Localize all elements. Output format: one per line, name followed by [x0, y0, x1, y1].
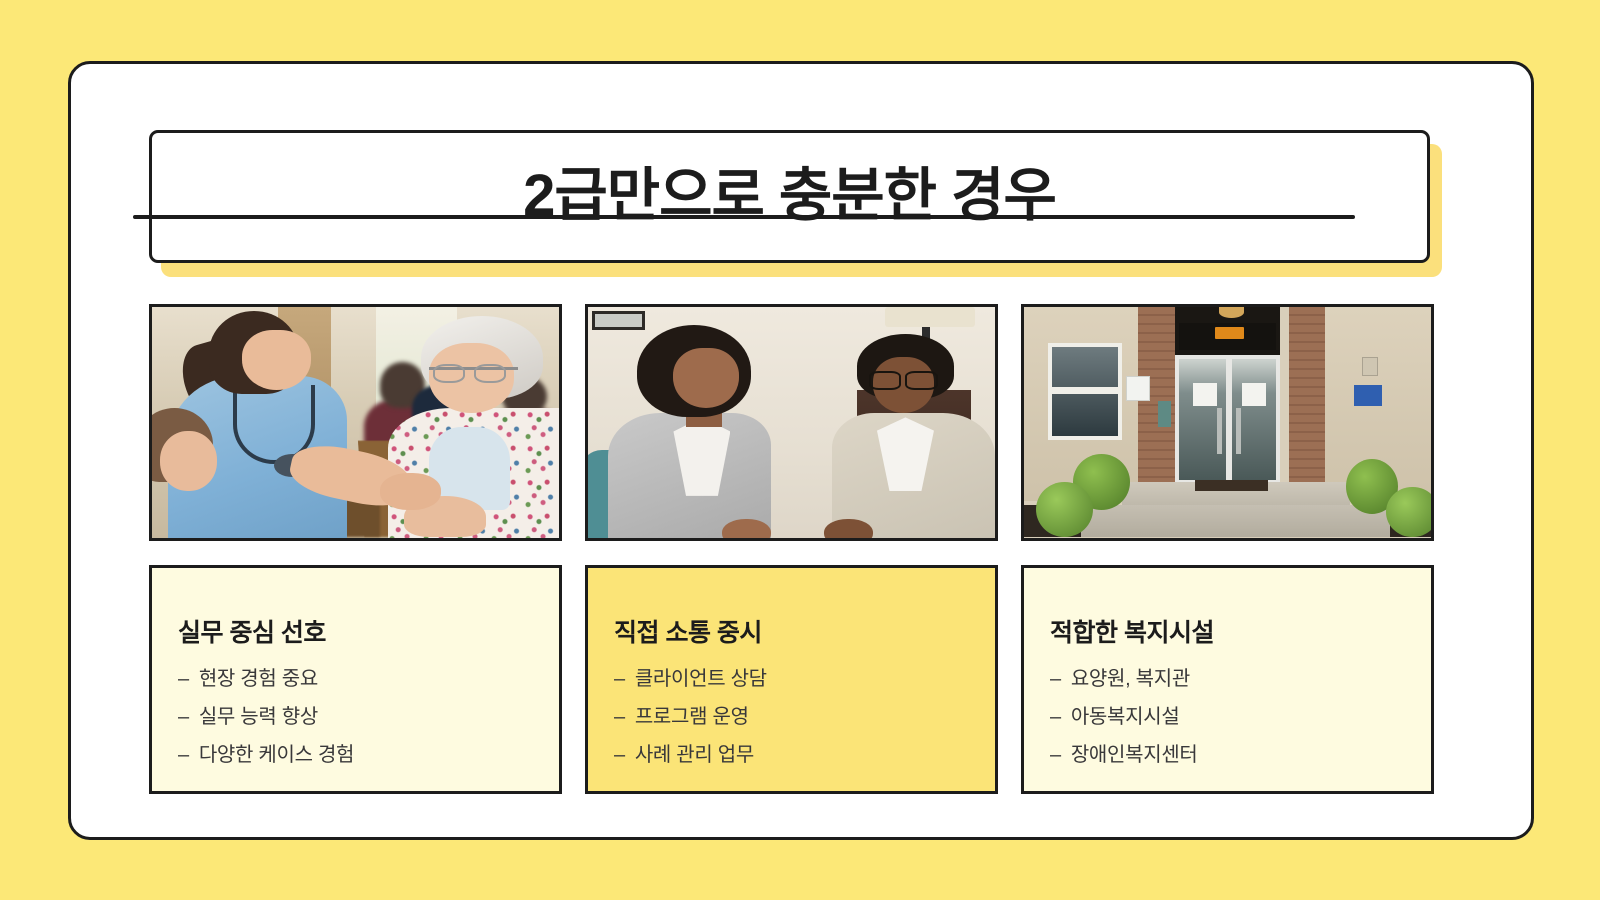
list-item: – 사례 관리 업무 [614, 745, 969, 765]
title-underline-rule [133, 215, 1355, 219]
list-item: – 클라이언트 상담 [614, 669, 969, 689]
dash-bullet-icon: – [178, 669, 189, 689]
content-columns: 실무 중심 선호 – 현장 경험 중요 – 실무 능력 향상 – 다양한 케이스… [149, 304, 1434, 794]
list-item: – 장애인복지센터 [1050, 745, 1405, 765]
list-item-label: 프로그램 운영 [635, 707, 749, 727]
dash-bullet-icon: – [1050, 745, 1061, 765]
dash-bullet-icon: – [614, 707, 625, 727]
list-item: – 실무 능력 향상 [178, 707, 533, 727]
column-3: 적합한 복지시설 – 요양원, 복지관 – 아동복지시설 – 장애인복지센터 [1021, 304, 1434, 794]
info-card-2: 직접 소통 중시 – 클라이언트 상담 – 프로그램 운영 – 사례 관리 업무 [585, 565, 998, 794]
list-item: – 현장 경험 중요 [178, 669, 533, 689]
photo-caregiver-with-elderly-woman [149, 304, 562, 541]
list-item-label: 실무 능력 향상 [199, 707, 318, 727]
info-card-1: 실무 중심 선호 – 현장 경험 중요 – 실무 능력 향상 – 다양한 케이스… [149, 565, 562, 794]
list-item-label: 현장 경험 중요 [199, 669, 318, 689]
list-item-label: 장애인복지센터 [1071, 745, 1198, 765]
card-heading-1: 실무 중심 선호 [178, 620, 533, 648]
list-item: – 아동복지시설 [1050, 707, 1405, 727]
card-heading-3: 적합한 복지시설 [1050, 620, 1405, 648]
dash-bullet-icon: – [614, 745, 625, 765]
dash-bullet-icon: – [1050, 707, 1061, 727]
dash-bullet-icon: – [178, 707, 189, 727]
dash-bullet-icon: – [178, 745, 189, 765]
photo-counseling-session-two-women [585, 304, 998, 541]
column-1: 실무 중심 선호 – 현장 경험 중요 – 실무 능력 향상 – 다양한 케이스… [149, 304, 562, 794]
card-list-1: – 현장 경험 중요 – 실무 능력 향상 – 다양한 케이스 경험 [178, 669, 533, 765]
dash-bullet-icon: – [614, 669, 625, 689]
column-2: 직접 소통 중시 – 클라이언트 상담 – 프로그램 운영 – 사례 관리 업무 [585, 304, 998, 794]
card-heading-2: 직접 소통 중시 [614, 620, 969, 648]
list-item-label: 사례 관리 업무 [635, 745, 754, 765]
list-item-label: 요양원, 복지관 [1071, 669, 1190, 689]
list-item-label: 클라이언트 상담 [635, 669, 767, 689]
card-list-3: – 요양원, 복지관 – 아동복지시설 – 장애인복지센터 [1050, 669, 1405, 765]
dash-bullet-icon: – [1050, 669, 1061, 689]
info-card-3: 적합한 복지시설 – 요양원, 복지관 – 아동복지시설 – 장애인복지센터 [1021, 565, 1434, 794]
list-item: – 다양한 케이스 경험 [178, 745, 533, 765]
list-item-label: 다양한 케이스 경험 [199, 745, 354, 765]
list-item: – 요양원, 복지관 [1050, 669, 1405, 689]
title-block: 2급만으로 충분한 경우 [149, 130, 1430, 263]
slide-frame: 2급만으로 충분한 경우 [68, 61, 1534, 840]
card-list-2: – 클라이언트 상담 – 프로그램 운영 – 사례 관리 업무 [614, 669, 969, 765]
list-item-label: 아동복지시설 [1071, 707, 1180, 727]
photo-welfare-facility-entrance [1021, 304, 1434, 541]
title-box: 2급만으로 충분한 경우 [149, 130, 1430, 263]
list-item: – 프로그램 운영 [614, 707, 969, 727]
